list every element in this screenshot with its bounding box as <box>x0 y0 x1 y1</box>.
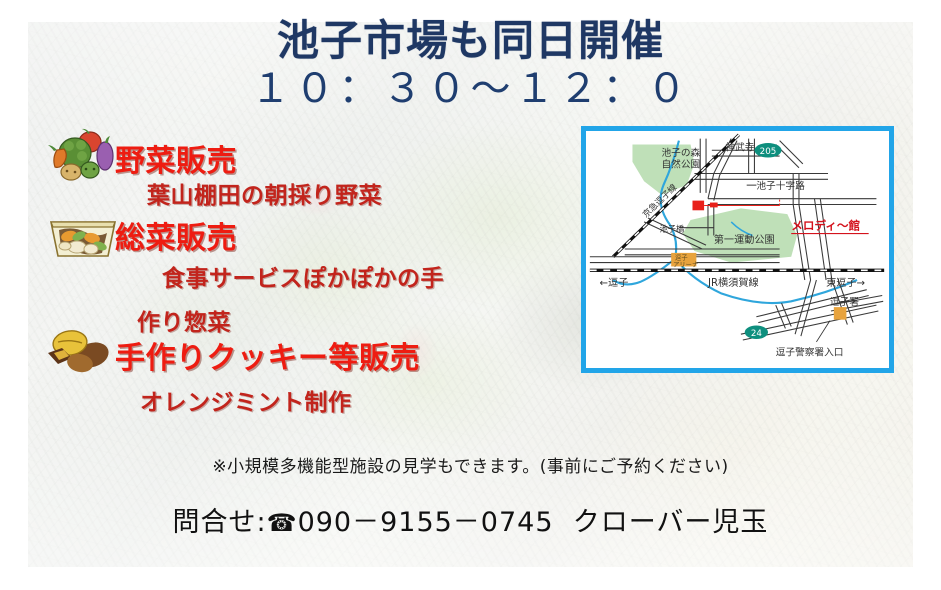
list-item-homemade-side-dish: 作り惣菜 <box>137 303 231 337</box>
map-route-205-label: 205 <box>760 147 777 157</box>
visit-note: ※小規模多機能型施設の見学もできます。(事前にご予約ください) <box>0 452 941 477</box>
map-label-first-sports-park: 第一運動公園 <box>714 233 775 246</box>
map-label-forest-park-line1: 池子の森 <box>662 146 701 159</box>
map-label-jr-yokosuka-line: JR横須賀線 <box>707 276 759 289</box>
map-label-ikego-bridge: 池子橋 <box>660 224 685 234</box>
list-item-vegetable-sales: 野菜販売 <box>115 136 237 180</box>
list-item-meal-service: 食事サービスぽかぽかの手 <box>162 259 444 293</box>
contact-prefix: 問合せ: <box>173 507 267 538</box>
map-label-zushi-left: ←逗子 <box>600 277 629 289</box>
map-label-zushi-arena-line2: アリーナ <box>673 260 698 268</box>
map-route-24-label: 24 <box>751 329 763 339</box>
contact-phone: 090－9155－0745 <box>298 507 554 538</box>
map-label-zushi-police-entrance: 逗子警察署入口 <box>776 346 844 359</box>
map-label-ikego-crossroad: 池子十字路 <box>756 179 805 192</box>
list-item-orange-mint: オレンジミント制作 <box>140 383 352 417</box>
map-label-melody-hall: メロディ～館 <box>791 219 860 233</box>
map-route-shield-205: 205 <box>754 143 781 158</box>
cookies-icon <box>40 323 116 379</box>
flyer-poster: 池子市場も同日開催 １０：３０～１２：０ <box>0 0 941 590</box>
page-title: 池子市場も同日開催 <box>0 20 941 62</box>
list-item-prepared-food-sales: 総菜販売 <box>115 213 237 257</box>
map-graphic: 205 24 池子の森 自然公園 神武寺 池子十字路 池子橋 第一運動公園 逗子… <box>586 131 889 368</box>
map-building-zushi-police <box>834 307 847 320</box>
list-item-cookie-sales: 手作りクッキー等販売 <box>115 333 420 377</box>
list-item-hayama-vegetables: 葉山棚田の朝採り野菜 <box>147 176 382 210</box>
map-marker-destination <box>692 201 704 211</box>
event-time: １０：３０～１２：０ <box>0 68 941 110</box>
map-label-melody-hall-group: メロディ～館 <box>791 219 868 234</box>
map-label-higashi-zushi-right: 東逗子→ <box>826 276 865 289</box>
bento-tray-icon <box>45 206 121 262</box>
header: 池子市場も同日開催 １０：３０～１２：０ <box>0 20 941 110</box>
location-map: 205 24 池子の森 自然公園 神武寺 池子十字路 池子橋 第一運動公園 逗子… <box>581 126 894 373</box>
map-label-jinmuji: 神武寺 <box>725 140 754 153</box>
map-route-shield-24: 24 <box>745 325 768 339</box>
map-label-zushi-arena-line1: 逗子 <box>675 253 688 262</box>
map-label-forest-park-line2: 自然公園 <box>662 158 701 171</box>
contact-organization: クローバー児玉 <box>573 507 769 538</box>
map-label-zushi-police-box: 逗子署 <box>830 296 859 308</box>
contact-line: 問合せ:☎090－9155－0745 クローバー児玉 <box>0 500 941 539</box>
telephone-icon: ☎ <box>267 509 298 537</box>
vegetables-icon <box>45 128 121 184</box>
